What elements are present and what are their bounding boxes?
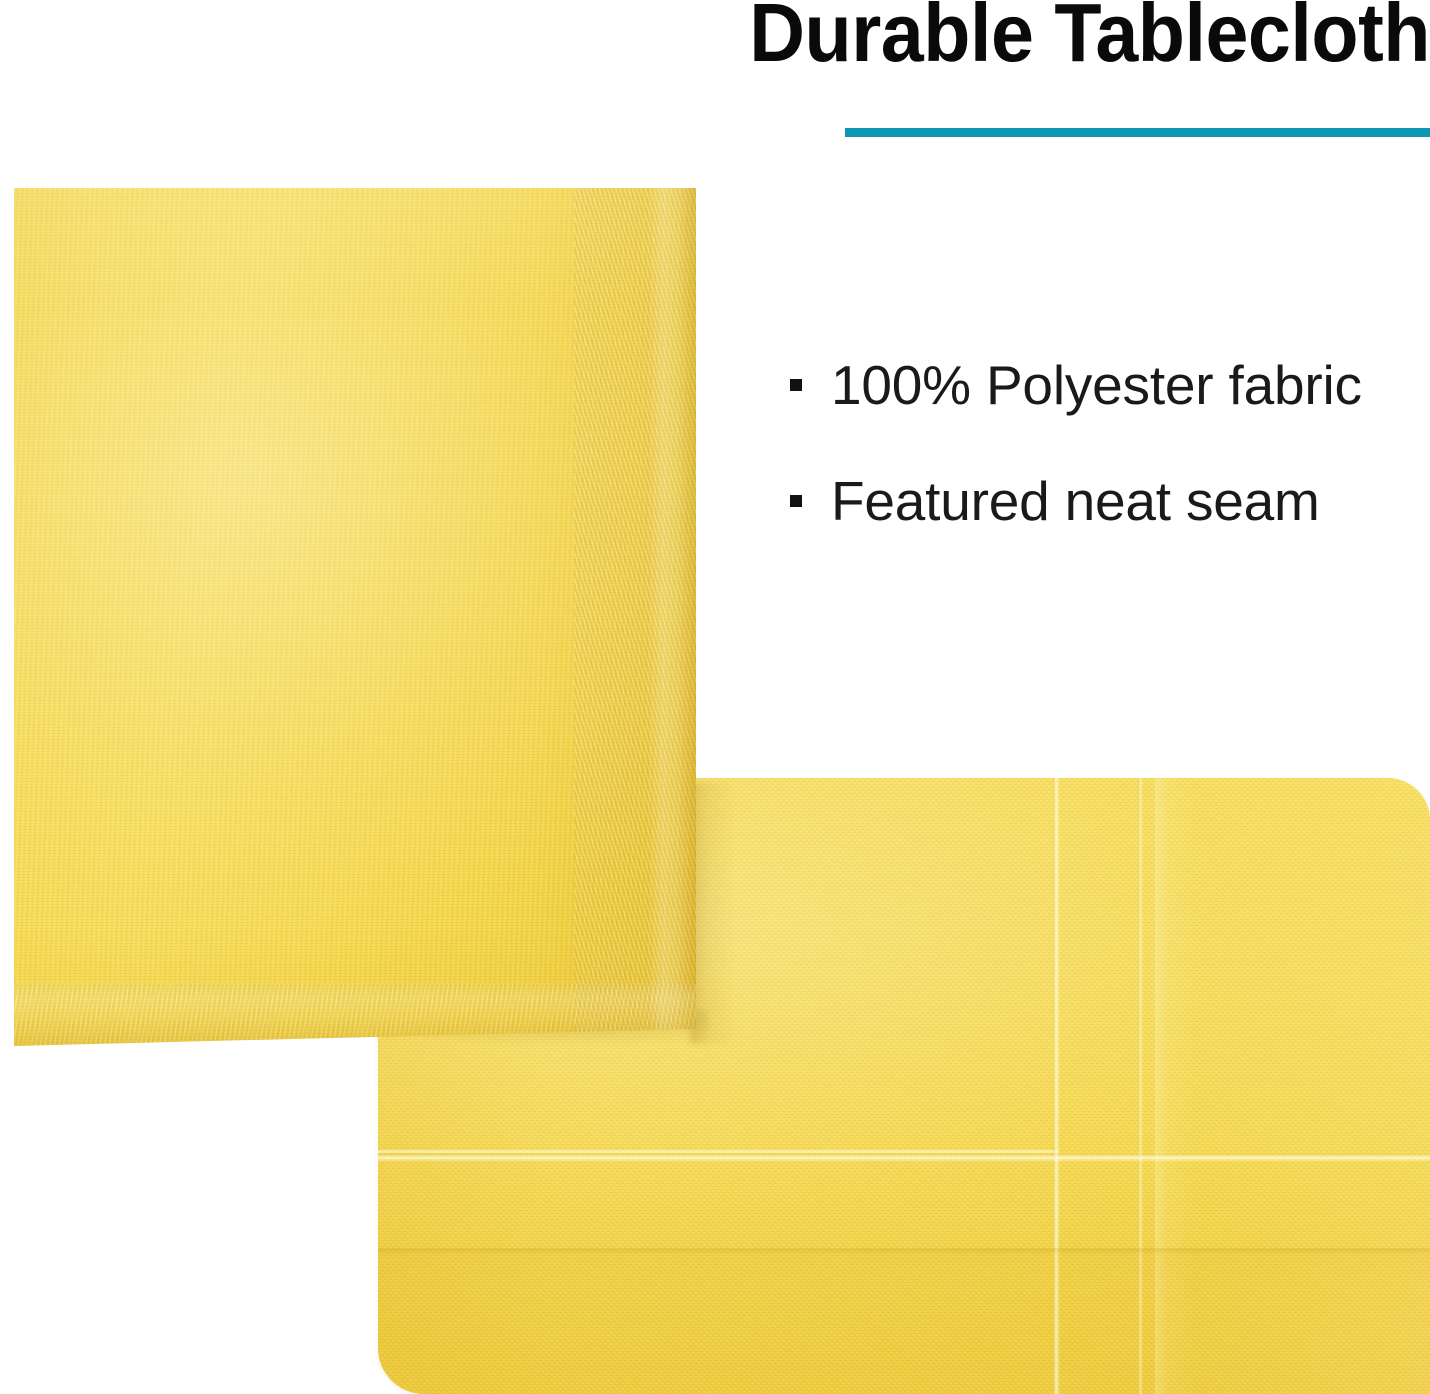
stack-drop-shadow-right [690,782,736,1044]
folded-tablecloth-stack [14,188,696,1046]
seam-line-horizontal [378,1154,1430,1162]
folded-edge-highlight-bottom [14,980,696,1046]
folded-edge-twill-bottom [14,984,696,1046]
fabric-diagonal-weave-texture [378,778,1430,1394]
title-underline-rule [845,128,1430,137]
stack-drop-shadow-bottom [378,1010,708,1062]
square-bullet-icon [790,379,802,391]
hem-inner-crease [378,1150,1058,1153]
fabric-lighting [14,188,696,1046]
product-photo [0,0,1430,1394]
seam-line-vertical-secondary [1138,778,1143,1394]
fabric-weave-texture [14,188,696,1046]
fabric-fold-shadow-band [378,1250,1430,1394]
feature-list: 100% Polyester fabric Featured neat seam [790,350,1410,582]
hem-panel-edge [1155,778,1430,1394]
fabric-weave-texture [378,778,1430,1394]
fabric-fold-line [378,1248,1430,1252]
product-infographic: Durable Tablecloth 100% Polyester fabric… [0,0,1430,1394]
list-item: Featured neat seam [790,466,1410,582]
flat-tablecloth-hem [378,778,1430,1394]
fabric-striation-texture [14,188,696,1046]
fabric-lighting [378,778,1430,1394]
heading-block: Durable Tablecloth [655,0,1430,150]
feature-label: 100% Polyester fabric [831,350,1362,420]
list-item: 100% Polyester fabric [790,350,1410,466]
feature-label: Featured neat seam [831,466,1320,536]
fabric-twill-ribbing [574,188,696,1046]
seam-line-vertical [1053,778,1060,1394]
square-bullet-icon [790,495,802,507]
folded-edge-highlight-right [648,188,696,1046]
page-title: Durable Tablecloth [717,0,1430,80]
